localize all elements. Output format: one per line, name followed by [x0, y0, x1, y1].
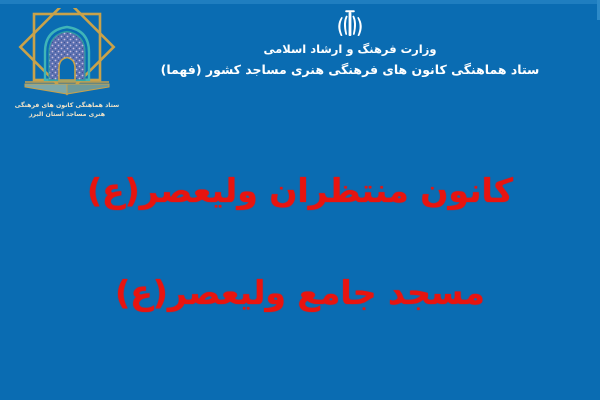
headline-primary: کانون منتظران ولیعصر(ع)	[0, 170, 600, 212]
logo-caption-line-1: ستاد هماهنگی کانون های فرهنگی	[8, 101, 126, 110]
ministry-name: وزارت فرهنگ و ارشاد اسلامی	[130, 41, 570, 58]
mosque-star-logo-icon	[15, 8, 119, 100]
headline-secondary: مسجد جامع ولیعصر(ع)	[0, 272, 600, 314]
iran-national-emblem-icon	[335, 6, 365, 38]
ministry-header-block: وزارت فرهنگ و ارشاد اسلامی ستاد هماهنگی …	[130, 6, 570, 80]
logo-caption-line-2: هنری مساجد استان البرز	[8, 110, 126, 119]
organization-logo-block: ستاد هماهنگی کانون های فرهنگی هنری مساجد…	[8, 8, 126, 119]
logo-caption: ستاد هماهنگی کانون های فرهنگی هنری مساجد…	[8, 101, 126, 119]
organization-name: ستاد هماهنگی کانون های فرهنگی هنری مساجد…	[130, 60, 570, 80]
top-edge-band	[0, 0, 600, 4]
banner-canvas: ستاد هماهنگی کانون های فرهنگی هنری مساجد…	[0, 0, 600, 400]
